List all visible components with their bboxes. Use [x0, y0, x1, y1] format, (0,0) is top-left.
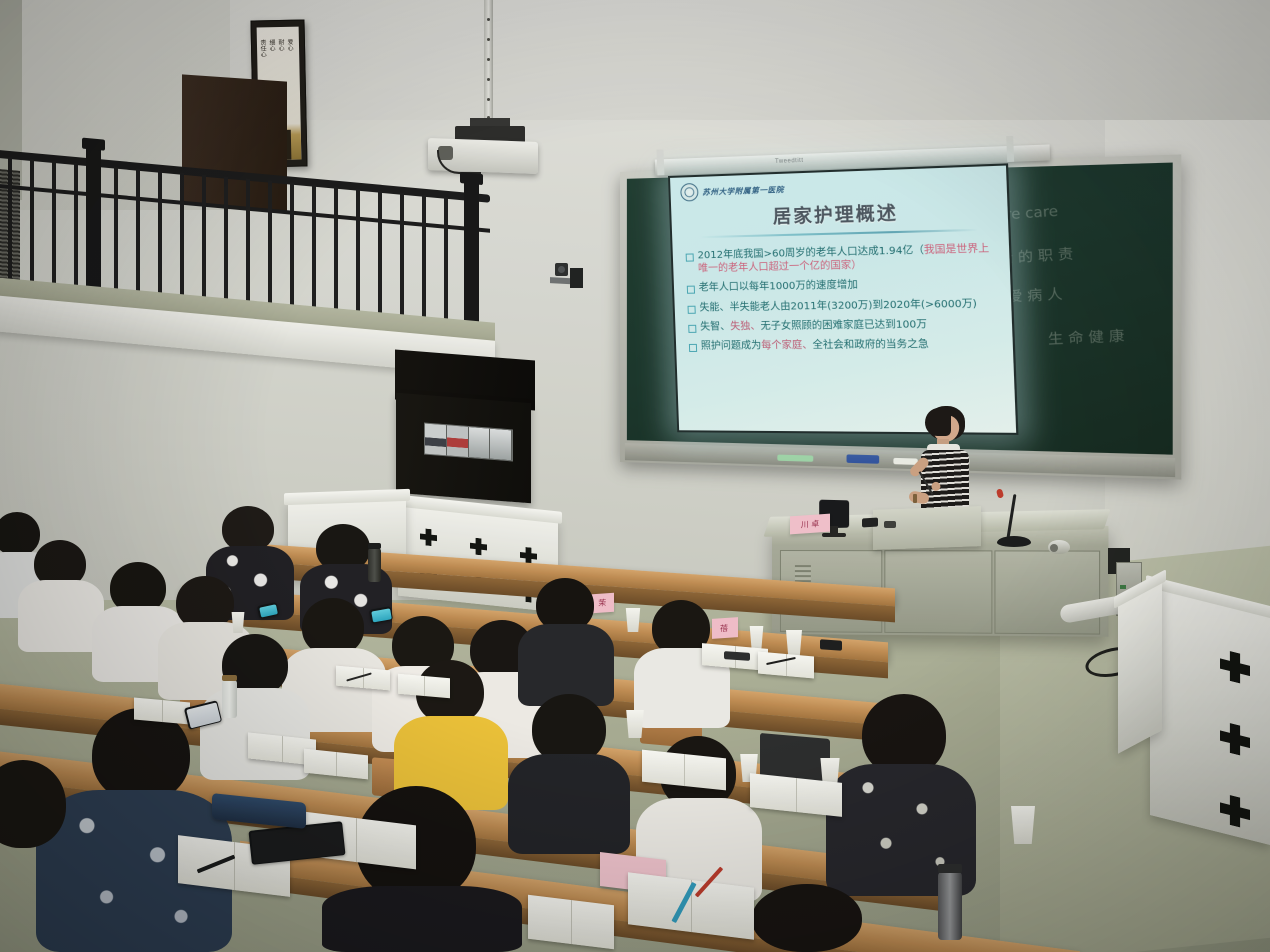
audience-head [0, 512, 40, 556]
chalk-box-icon [777, 455, 813, 462]
podium-name-card: 川 卓 [790, 514, 830, 535]
slide-bullet: 2012年底我国>60周岁的老年人口达成1.94亿（我国是世界上唯一的老年人口超… [685, 242, 995, 276]
slide-bullet: 失智、失独、无子女照顾的困难家庭已达到100万 [688, 317, 998, 334]
slide-bullet-text: 照护问题成为每个家庭、全社会和政府的当务之急 [701, 338, 929, 353]
water-bottle[interactable] [222, 680, 237, 718]
bullet-square-icon [688, 305, 696, 313]
desk-name-card-2-text: 蓓 [720, 622, 730, 634]
cross-cutout-icon [1220, 792, 1250, 829]
slide-bullet: 照护问题成为每个家庭、全社会和政府的当务之急 [689, 337, 999, 353]
thermos-bottle[interactable] [938, 872, 962, 940]
monitor-base [822, 533, 846, 537]
slide-bullet-text: 失智、失独、无子女照顾的困难家庭已达到100万 [700, 318, 927, 334]
slide-bullet-run: 照护问题成为 [701, 340, 762, 352]
camera-lens-icon [558, 266, 565, 273]
water-bottle[interactable] [368, 548, 381, 582]
presenter-wristwatch [913, 494, 917, 503]
projector-mount-pole [484, 0, 493, 130]
cross-cutout-icon [1220, 720, 1250, 757]
slide-bullet-run: 每个家庭、 [761, 340, 813, 352]
audience-body [322, 886, 522, 952]
slide-bullet-run: 全社会和政府的当务之急 [812, 339, 929, 351]
slide-bullet-run: 老年人口以每年1000万的速度增加 [699, 280, 858, 294]
remote-control-icon[interactable] [862, 518, 878, 528]
chalk-line-4: 生 命 健 康 [1047, 324, 1125, 348]
cross-cutout-icon [470, 537, 487, 556]
slide-bullet: 失能、半失能老人由2011年(3200万)到2020年(>6000万) [687, 297, 997, 315]
lecture-hall-photo: 爱心 耐心 细心 责任心 [0, 0, 1270, 952]
balustrade-right [1150, 585, 1270, 845]
lectern [873, 506, 981, 550]
screen-bracket-right [1006, 136, 1014, 162]
audience-head [752, 884, 862, 952]
podium-door-right[interactable] [994, 550, 1100, 634]
slide-bullet-text: 老年人口以每年1000万的速度增加 [699, 279, 858, 295]
university-seal-icon [680, 183, 699, 202]
calligraphy-column-3: 细心 [268, 39, 275, 51]
projection-screen[interactable]: 苏州大学附属第一医院 居家护理概述 2012年底我国>60周岁的老年人口达成1.… [668, 163, 1018, 435]
screen-brand-label: Tweedtitt [775, 158, 804, 165]
headset-icon[interactable] [1048, 540, 1070, 554]
slide-bullet-run: 失能、半失能老人由2011年(3200万)到2020年(>6000万) [699, 298, 977, 313]
slide-title-rule [700, 229, 978, 238]
bullet-square-icon [686, 253, 694, 261]
slide-bullet-run: 失智、 [700, 321, 730, 332]
calligraphy-column-1: 爱心 [286, 39, 293, 51]
screen-bracket-left [656, 149, 664, 175]
bullet-square-icon [689, 344, 697, 352]
desk-pen-case[interactable] [724, 651, 750, 661]
slide-org-name: 苏州大学附属第一医院 [702, 183, 784, 197]
podium-door-middle[interactable] [884, 550, 992, 634]
slide-bullet: 老年人口以每年1000万的速度增加 [687, 276, 997, 295]
slide-title: 居家护理概述 [681, 196, 997, 232]
calligraphy-column-2: 耐心 [277, 39, 284, 51]
camera-body [570, 268, 583, 288]
presenter-clicker-icon[interactable] [884, 521, 896, 528]
bullet-square-icon [688, 325, 696, 333]
eraser-icon [847, 454, 880, 463]
desk-remote[interactable] [820, 639, 842, 651]
slide-bullet-text: 失能、半失能老人由2011年(3200万)到2020年(>6000万) [699, 297, 977, 314]
slide-bullet-text: 2012年底我国>60周岁的老年人口达成1.94亿（我国是世界上唯一的老年人口超… [697, 242, 995, 276]
audience-body [508, 754, 630, 854]
balustrade-right-return [1118, 580, 1162, 753]
slide-bullet-list: 2012年底我国>60周岁的老年人口达成1.94亿（我国是世界上唯一的老年人口超… [683, 242, 1002, 353]
gooseneck-microphone[interactable] [997, 536, 1031, 547]
presenter-hair-front [925, 408, 951, 436]
slide-bullet-run: 2012年底我国>60周岁的老年人口达成1.94亿（ [697, 245, 924, 261]
slide-bullet-run: 无子女照顾的困难家庭已达到100万 [760, 319, 927, 332]
slide-content: 苏州大学附属第一医院 居家护理概述 2012年底我国>60周岁的老年人口达成1.… [670, 166, 1016, 433]
desk-name-card-2: 蓓 [712, 617, 738, 639]
cross-cutout-icon [1220, 648, 1250, 685]
calligraphy-column-4: 责任心 [259, 39, 266, 57]
slide-bullet-run: 失独、 [730, 321, 761, 332]
podium-name-card-text: 川 卓 [801, 518, 820, 530]
bullet-square-icon [687, 286, 695, 294]
cross-cutout-icon [420, 528, 437, 547]
